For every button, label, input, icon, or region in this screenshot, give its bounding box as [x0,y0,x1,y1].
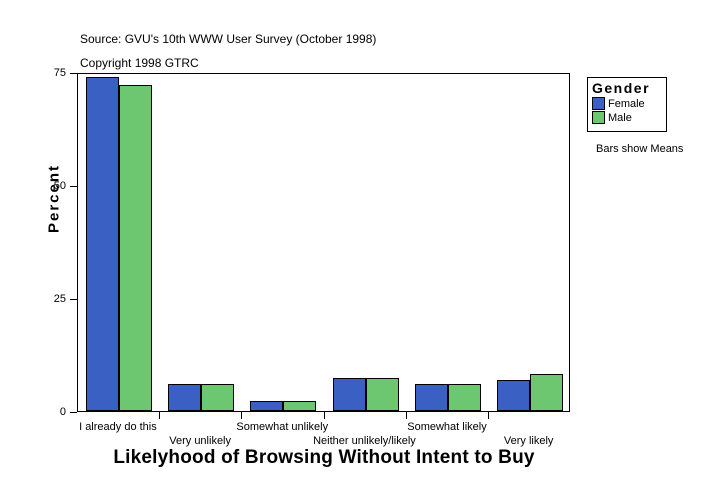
y-axis-tick-label: 50 [48,181,66,192]
bar [283,401,316,411]
legend: Gender FemaleMale [587,77,667,132]
x-axis-tick-label: Very unlikely [169,435,231,447]
bar [415,384,448,411]
y-axis-tick-label: 0 [48,407,66,418]
legend-entry-label: Female [608,98,645,110]
x-axis-tick-label: Somewhat unlikely [236,421,328,433]
plot-frame [77,73,570,412]
x-axis-tick [324,412,325,419]
plot-area [78,74,569,411]
y-axis-tick [70,73,77,74]
legend-entries: FemaleMale [592,97,666,124]
bars-show-means-note: Bars show Means [596,143,683,155]
bar [250,401,283,411]
bar [497,380,530,411]
copyright-text: Copyright 1998 GTRC [80,56,199,70]
legend-entry: Female [592,97,666,110]
bar [86,77,119,411]
x-axis-tick [488,412,489,419]
legend-entry-label: Male [608,112,632,124]
y-axis-tick-label: 25 [48,294,66,305]
x-axis-tick [406,412,407,419]
x-axis-tick-label: Neither unlikely/likely [313,435,416,447]
legend-title: Gender [592,80,666,96]
bar [333,378,366,411]
bar [366,378,399,411]
y-axis-tick [70,412,77,413]
bar [530,374,563,411]
bar [119,85,152,411]
chart-canvas: Source: GVU's 10th WWW User Survey (Octo… [0,0,724,502]
legend-swatch [592,97,605,110]
y-axis-title: Percent [46,139,63,259]
legend-swatch [592,111,605,124]
x-axis-tick [241,412,242,419]
y-axis-tick [70,186,77,187]
x-axis-tick-label: I already do this [79,421,157,433]
source-text: Source: GVU's 10th WWW User Survey (Octo… [80,32,376,46]
x-axis-title: Likelyhood of Browsing Without Intent to… [0,447,648,469]
x-axis-tick-label: Somewhat likely [407,421,486,433]
y-axis-tick [70,299,77,300]
x-axis-tick [159,412,160,419]
y-axis-tick-label: 75 [48,68,66,79]
bar [201,384,234,411]
legend-entry: Male [592,111,666,124]
x-axis-tick-label: Very likely [504,435,554,447]
bar [448,384,481,411]
bar [168,384,201,411]
